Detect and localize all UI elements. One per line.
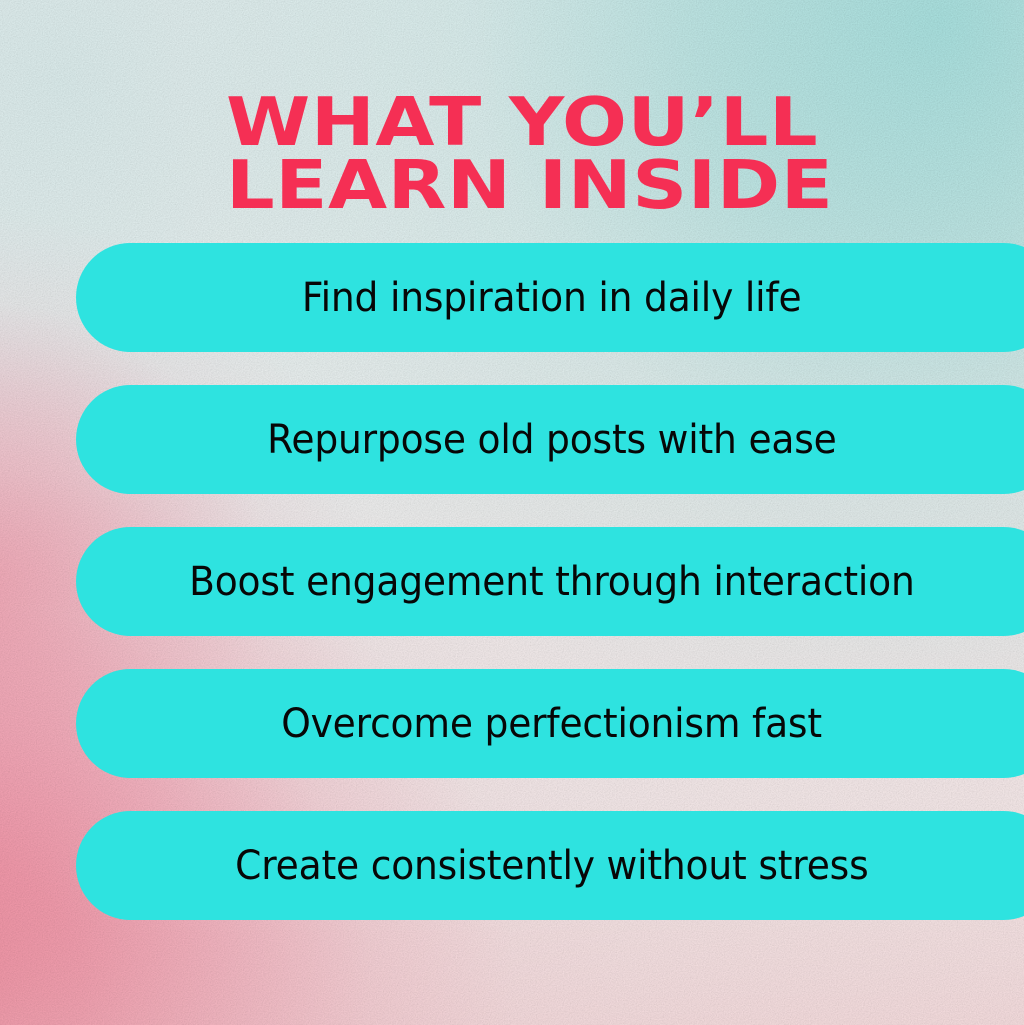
page-title-line-2: LEARN INSIDE (226, 154, 1024, 217)
list-item: Find inspiration in daily life (76, 243, 1024, 352)
list-item-label: Create consistently without stress (235, 843, 868, 889)
benefit-list: Find inspiration in daily life Repurpose… (76, 243, 1024, 920)
list-item: Boost engagement through interaction (76, 527, 1024, 636)
graphic-canvas: WHAT YOU’LL LEARN INSIDE Find inspiratio… (0, 0, 1024, 1025)
list-item-label: Overcome perfectionism fast (282, 701, 823, 747)
page-title: WHAT YOU’LL LEARN INSIDE (226, 91, 986, 217)
list-item: Overcome perfectionism fast (76, 669, 1024, 778)
page-title-line-1: WHAT YOU’LL (226, 91, 1024, 154)
list-item-label: Boost engagement through interaction (189, 559, 915, 605)
list-item-label: Repurpose old posts with ease (267, 417, 836, 463)
list-item-label: Find inspiration in daily life (302, 275, 802, 321)
list-item: Create consistently without stress (76, 811, 1024, 920)
list-item: Repurpose old posts with ease (76, 385, 1024, 494)
